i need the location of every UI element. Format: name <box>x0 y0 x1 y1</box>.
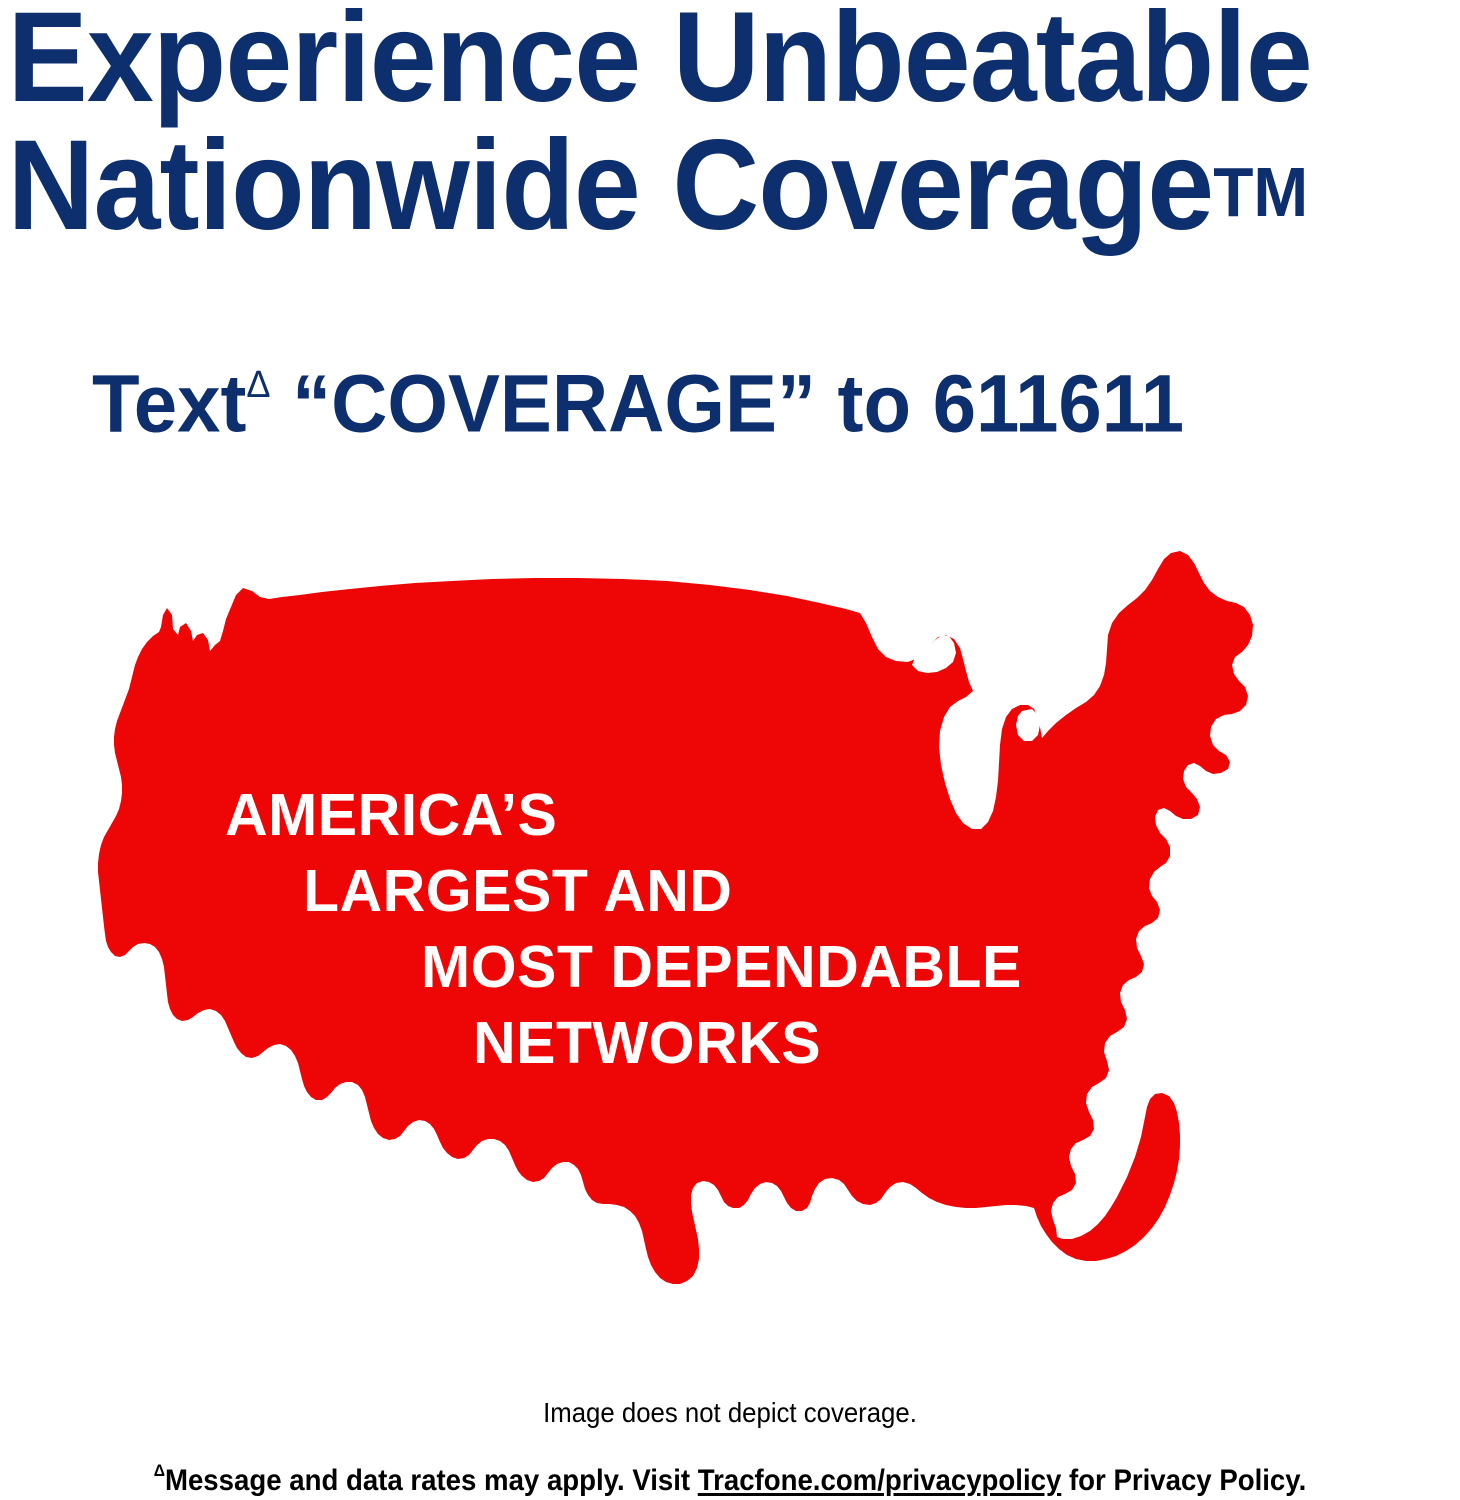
trademark-icon: TM <box>1213 153 1308 231</box>
headline-line-2-text: Nationwide Coverage <box>8 114 1214 257</box>
legal-text-before-link: Message and data rates may apply. Visit <box>165 1464 698 1497</box>
subheadline-prefix: Text <box>92 358 246 449</box>
legal-text-after-link: for Privacy Policy. <box>1061 1464 1306 1497</box>
headline-line-1: Experience Unbeatable <box>0 0 1312 124</box>
map-container: AMERICA’S LARGEST AND MOST DEPENDABLE NE… <box>60 545 1350 1375</box>
legal-footnote-marker-icon: Δ <box>154 1461 165 1480</box>
lake-michigan <box>956 701 996 819</box>
image-disclaimer: Image does not depict coverage. <box>58 1396 1401 1430</box>
united-states-map-icon <box>60 545 1350 1375</box>
subheadline: TextΔ “COVERAGE” to 611611 <box>92 348 1184 447</box>
usa-landmass <box>98 551 1263 1284</box>
headline-line-2: Nationwide CoverageTM <box>0 120 1308 252</box>
footer-block: Image does not depict coverage. ΔMessage… <box>0 1396 1460 1499</box>
cape-cod-bay <box>1243 757 1263 776</box>
privacy-policy-link[interactable]: Tracfone.com/privacypolicy <box>698 1464 1062 1497</box>
usa-mainland-outline <box>98 551 1253 1284</box>
subheadline-body: “COVERAGE” to 611611 <box>271 358 1185 449</box>
footnote-marker-icon: Δ <box>246 364 270 406</box>
legal-disclaimer: ΔMessage and data rates may apply. Visit… <box>58 1456 1401 1499</box>
promo-page: Experience Unbeatable Nationwide Coverag… <box>0 0 1460 1500</box>
